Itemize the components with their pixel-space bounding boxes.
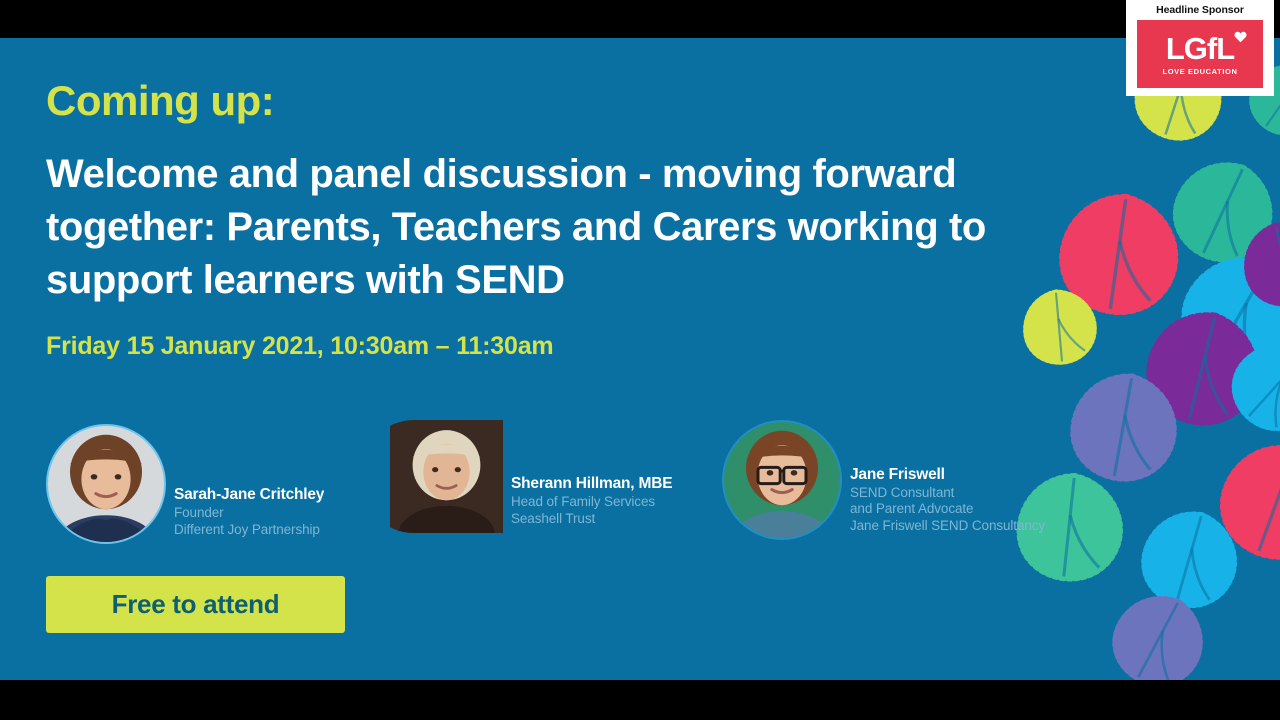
lgfl-logo: LGfL LOVE EDUCATION [1137,20,1263,88]
letterbox-top [0,0,1280,38]
lgfl-wordmark-text: LGfL [1166,31,1234,66]
speaker-organisation: Seashell Trust [511,511,672,527]
avatar [722,420,842,540]
speaker-organisation: Different Joy Partnership [174,522,324,538]
speaker-role-line2: and Parent Advocate [850,501,1045,517]
free-to-attend-button[interactable]: Free to attend [46,576,345,633]
lgfl-tagline: LOVE EDUCATION [1163,68,1238,76]
speaker-role: Head of Family Services [511,494,672,510]
speaker-credit: Sarah-Jane CritchleyFounderDifferent Joy… [174,486,324,544]
speaker-card: Jane FriswellSEND Consultantand Parent A… [722,420,1045,540]
sponsor-label: Headline Sponsor [1156,4,1244,17]
speaker-role: Founder [174,505,324,521]
headline-sponsor-badge: Headline Sponsor LGfL LOVE EDUCATION [1126,0,1274,96]
heart-icon [1234,31,1247,43]
speaker-name: Sarah-Jane Critchley [174,486,324,505]
speaker-name: Jane Friswell [850,466,1045,485]
eyebrow-heading: Coming up: [46,38,1136,122]
speaker-credit: Sherann Hillman, MBEHead of Family Servi… [511,475,672,533]
speaker-organisation: Jane Friswell SEND Consultancy [850,518,1045,534]
speaker-list: Sarah-Jane CritchleyFounderDifferent Joy… [46,420,1106,550]
avatar [390,420,503,533]
event-datetime: Friday 15 January 2021, 10:30am – 11:30a… [46,308,1136,359]
presentation-slide: Coming up: Welcome and panel discussion … [0,38,1280,680]
speaker-role: SEND Consultant [850,485,1045,501]
page-title: Welcome and panel discussion - moving fo… [46,122,1136,308]
speaker-card: Sherann Hillman, MBEHead of Family Servi… [390,420,672,533]
lgfl-wordmark: LGfL [1166,33,1234,64]
letterbox-bottom [0,680,1280,720]
speaker-card: Sarah-Jane CritchleyFounderDifferent Joy… [46,424,324,544]
speaker-credit: Jane FriswellSEND Consultantand Parent A… [850,466,1045,540]
slide-text-content: Coming up: Welcome and panel discussion … [46,38,1136,359]
speaker-name: Sherann Hillman, MBE [511,475,672,494]
avatar [46,424,166,544]
video-frame: Coming up: Welcome and panel discussion … [0,0,1280,720]
